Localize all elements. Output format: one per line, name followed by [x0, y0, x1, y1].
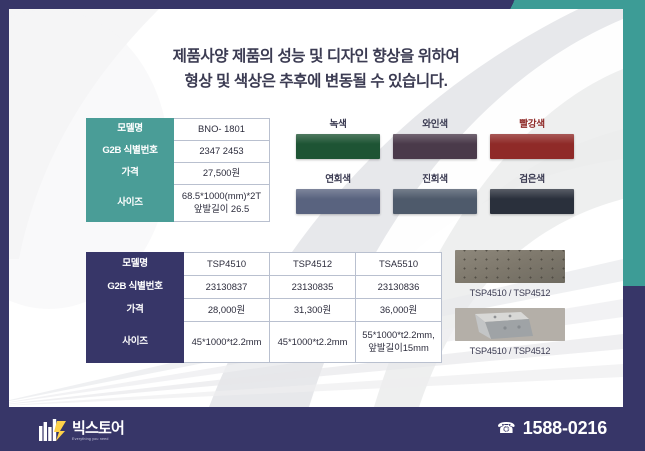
- table1-size-line-1: 68.5*1000(mm)*2T: [176, 190, 267, 203]
- headline-line-2: 형상 및 색상은 추후에 변동될 수 있습니다.: [9, 69, 623, 94]
- frame-corner-wedge: [496, 0, 536, 9]
- headline: 제품사양 제품의 성능 및 디자인 향상을 위하여 형상 및 색상은 추후에 변…: [9, 44, 623, 94]
- logo-tagline: Everything you need: [72, 438, 124, 442]
- perforation-pattern: [455, 250, 565, 283]
- table2-value-model-3: TSA5510: [356, 253, 442, 276]
- logo-wordmark: 빅스토어: [72, 421, 124, 436]
- table-row: G2B 식별번호 23130837 23130835 23130836: [87, 276, 442, 299]
- table-row: G2B 식별번호 2347 2453: [87, 141, 270, 163]
- color-swatch-red: 빨강색: [490, 116, 574, 159]
- table1-value-price: 27,500원: [174, 163, 270, 185]
- table-row: 가격 27,500원: [87, 163, 270, 185]
- color-swatch-row-2: 연회색 진회색 검은색: [296, 171, 596, 214]
- table2-size-3-line-1: 55*1000*t2.2mm,: [358, 329, 439, 342]
- table2-value-size-3: 55*1000*t2.2mm, 앞발길이15mm: [356, 322, 442, 363]
- color-chip-black: [490, 189, 574, 214]
- color-label-black: 검은색: [490, 171, 574, 185]
- table2-value-price-1: 28,000원: [184, 299, 270, 322]
- headline-line-1: 제품사양 제품의 성능 및 디자인 향상을 위하여: [9, 44, 623, 69]
- spec-table-tsp-series: 모델명 TSP4510 TSP4512 TSA5510 G2B 식별번호 231…: [86, 252, 442, 363]
- table1-value-g2b: 2347 2453: [174, 141, 270, 163]
- table2-header-size: 사이즈: [87, 322, 184, 363]
- color-chip-green: [296, 134, 380, 159]
- table2-value-size-1: 45*1000*t2.2mm: [184, 322, 270, 363]
- spec-table-bno1801: 모델명 BNO- 1801 G2B 식별번호 2347 2453 가격 27,5…: [86, 118, 270, 222]
- frame-top-navy-bar: [0, 0, 532, 9]
- table2-value-model-1: TSP4510: [184, 253, 270, 276]
- table-row: 가격 28,000원 31,300원 36,000원: [87, 299, 442, 322]
- table1-header-g2b: G2B 식별번호: [87, 141, 174, 163]
- color-swatch-green: 녹색: [296, 116, 380, 159]
- table1-header-model: 모델명: [87, 119, 174, 141]
- table1-size-line-2: 앞발길이 26.5: [176, 203, 267, 216]
- color-chip-light-gray: [296, 189, 380, 214]
- table1-value-size: 68.5*1000(mm)*2T 앞발길이 26.5: [174, 185, 270, 222]
- product-photo-block-perforated: TSP4510 / TSP4512: [455, 250, 565, 298]
- product-photo-angle-plate: [455, 308, 565, 341]
- table-row: 모델명 BNO- 1801: [87, 119, 270, 141]
- color-chip-red: [490, 134, 574, 159]
- table2-value-g2b-1: 23130837: [184, 276, 270, 299]
- color-swatch-grid: 녹색 와인색 빨강색 연회색 진회색 검은색: [296, 116, 596, 226]
- table2-value-price-2: 31,300원: [270, 299, 356, 322]
- product-photo-block-angle: TSP4510 / TSP4512: [455, 308, 565, 356]
- frame-right-teal-bar: [623, 0, 645, 286]
- table-row: 사이즈 68.5*1000(mm)*2T 앞발길이 26.5: [87, 185, 270, 222]
- table2-header-model: 모델명: [87, 253, 184, 276]
- color-swatch-black: 검은색: [490, 171, 574, 214]
- table1-value-model: BNO- 1801: [174, 119, 270, 141]
- frame-left-navy-bar: [0, 0, 9, 451]
- table1-header-price: 가격: [87, 163, 174, 185]
- table2-value-price-3: 36,000원: [356, 299, 442, 322]
- color-label-wine: 와인색: [393, 116, 477, 130]
- table-row: 사이즈 45*1000*t2.2mm 45*1000*t2.2mm 55*100…: [87, 322, 442, 363]
- color-label-dark-gray: 진회색: [393, 171, 477, 185]
- table1-header-size: 사이즈: [87, 185, 174, 222]
- color-swatch-light-gray: 연회색: [296, 171, 380, 214]
- color-swatch-dark-gray: 진회색: [393, 171, 477, 214]
- color-label-light-gray: 연회색: [296, 171, 380, 185]
- table2-header-g2b: G2B 식별번호: [87, 276, 184, 299]
- table-row: 모델명 TSP4510 TSP4512 TSA5510: [87, 253, 442, 276]
- product-photo-caption-2: TSP4510 / TSP4512: [455, 346, 565, 356]
- logo-mark-icon: [38, 418, 68, 442]
- color-swatch-wine: 와인색: [393, 116, 477, 159]
- color-chip-dark-gray: [393, 189, 477, 214]
- infographic-page: 제품사양 제품의 성능 및 디자인 향상을 위하여 형상 및 색상은 추후에 변…: [0, 0, 645, 451]
- color-swatch-row-1: 녹색 와인색 빨강색: [296, 116, 596, 159]
- phone-icon: ☎: [497, 421, 516, 436]
- brand-logo[interactable]: 빅스토어 Everything you need: [38, 418, 124, 442]
- table2-value-model-2: TSP4512: [270, 253, 356, 276]
- table2-header-price: 가격: [87, 299, 184, 322]
- table2-size-3-line-2: 앞발길이15mm: [358, 342, 439, 355]
- logo-text: 빅스토어 Everything you need: [72, 421, 124, 442]
- table2-value-g2b-3: 23130836: [356, 276, 442, 299]
- color-label-red: 빨강색: [490, 116, 574, 130]
- product-photo-perforated-plate: [455, 250, 565, 283]
- color-chip-wine: [393, 134, 477, 159]
- color-label-green: 녹색: [296, 116, 380, 130]
- table2-value-g2b-2: 23130835: [270, 276, 356, 299]
- contact-phone[interactable]: ☎ 1588-0216: [497, 418, 607, 439]
- phone-number: 1588-0216: [523, 418, 607, 439]
- table2-value-size-2: 45*1000*t2.2mm: [270, 322, 356, 363]
- product-photo-caption-1: TSP4510 / TSP4512: [455, 288, 565, 298]
